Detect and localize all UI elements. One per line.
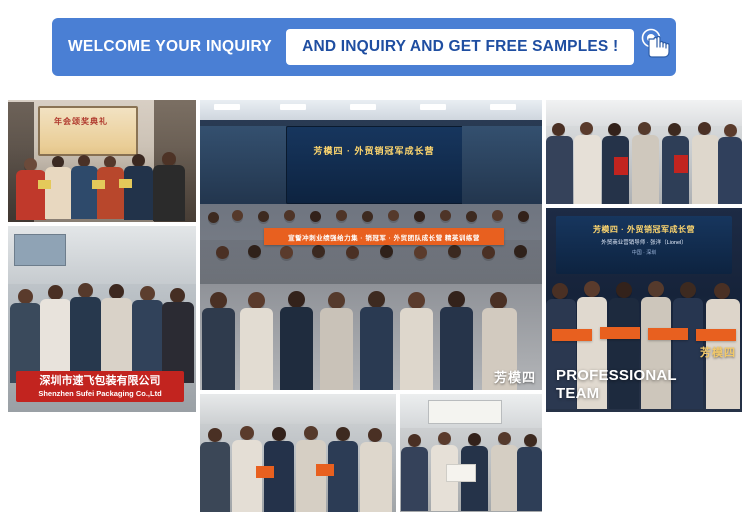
person-head: [448, 291, 465, 308]
ceiling: [200, 100, 542, 120]
person-head: [280, 246, 293, 259]
stage-led-screen: [286, 126, 464, 204]
caption-line-2: TEAM: [556, 385, 677, 404]
front-banner-text: 宣誓冲刺业绩强给力集 · 销冠军 · 外贸团队成长营 精英训练营: [288, 232, 480, 242]
professional-team-caption: PROFESSIONAL TEAM: [556, 367, 677, 405]
people-row: [200, 418, 396, 512]
person-head: [248, 292, 265, 309]
person-head: [438, 432, 451, 445]
photo-content: 芳模四 · 外贸销冠军成长营: [200, 100, 542, 390]
person-head: [482, 246, 495, 259]
photo-content: 深圳市速飞包装有限公司 Shenzhen Sufei Packaging Co.…: [8, 226, 196, 412]
photo-content: [200, 394, 396, 512]
person-head: [18, 289, 33, 304]
person-head: [380, 245, 393, 258]
person-body: [718, 137, 742, 204]
person-body: [280, 307, 313, 390]
person-head: [312, 245, 325, 258]
person-body: [491, 445, 518, 511]
photo-content: [400, 394, 542, 512]
person-head: [552, 123, 565, 136]
person-head: [388, 210, 399, 221]
person-head: [680, 282, 696, 298]
person-head: [368, 291, 385, 308]
person-head: [48, 285, 63, 300]
person-head: [284, 210, 295, 221]
person-head: [490, 292, 507, 309]
certificate: [674, 155, 688, 173]
person-body: [328, 441, 358, 512]
caption-line-1: PROFESSIONAL: [556, 367, 677, 386]
person-body: [70, 297, 101, 383]
stage-text: 年会颂奖典礼: [54, 116, 108, 127]
ceiling-light: [350, 104, 376, 110]
company-name-cn: 深圳市速飞包装有限公司: [40, 375, 161, 387]
award-banner: [648, 328, 688, 340]
front-banner: 宣誓冲刺业绩强给力集 · 销冠军 · 外贸团队成长营 精英训练营: [264, 228, 504, 245]
person-head: [272, 427, 286, 441]
watermark: 芳模四: [700, 344, 736, 360]
company-name-en: Shenzhen Sufei Packaging Co.,Ltd: [22, 389, 178, 398]
people-row: [8, 146, 196, 222]
whiteboard: [428, 400, 502, 424]
person-head: [408, 434, 421, 447]
person-body: [45, 167, 72, 219]
person-head: [616, 282, 632, 298]
click-hand-icon: [634, 24, 678, 70]
ceiling-light: [280, 104, 306, 110]
person-body: [320, 308, 353, 390]
person-body: [632, 135, 659, 204]
person-body: [574, 135, 601, 204]
ceiling-light: [214, 104, 240, 110]
ceiling-light: [420, 104, 446, 110]
person-head: [648, 281, 664, 297]
person-body: [202, 308, 235, 390]
person-head: [368, 428, 382, 442]
audience-area: 宣誓冲刺业绩强给力集 · 销冠军 · 外贸团队成长营 精英训练营: [200, 204, 542, 390]
person-body: [400, 308, 433, 390]
company-name-overlay: 深圳市速飞包装有限公司 Shenzhen Sufei Packaging Co.…: [16, 371, 184, 402]
banner-cta-pill[interactable]: AND INQUIRY AND GET FREE SAMPLES !: [286, 29, 634, 65]
person-head: [208, 212, 219, 223]
person-head: [346, 246, 359, 259]
person-body: [517, 447, 542, 511]
stage-screen-text: 芳模四 · 外贸销冠军成长营: [296, 144, 452, 157]
person-head: [216, 246, 229, 259]
person-body: [296, 440, 326, 512]
person-head: [714, 283, 730, 299]
person-body: [124, 166, 153, 220]
person-head: [109, 284, 124, 299]
person-head: [518, 211, 529, 222]
person-head: [258, 211, 269, 222]
person-head: [440, 210, 451, 221]
photo-award-winners: [546, 100, 742, 204]
inquiry-banner: WELCOME YOUR INQUIRY AND INQUIRY AND GET…: [52, 18, 676, 76]
person-head: [208, 428, 222, 442]
person-head: [668, 123, 681, 136]
ceiling-light: [490, 104, 516, 110]
person-head: [328, 292, 345, 309]
person-body: [673, 298, 703, 409]
banner-welcome-text: WELCOME YOUR INQUIRY: [68, 38, 286, 56]
certificate: [256, 466, 274, 478]
person-body: [546, 136, 573, 204]
wall-left: [200, 126, 286, 206]
person-body: [101, 298, 132, 383]
people-row: [400, 422, 542, 512]
person-body: [360, 307, 393, 390]
person-body: [440, 307, 473, 390]
person-body: [16, 170, 46, 220]
person-body: [401, 447, 428, 511]
stage-screen-subtext2: 中国 · 深圳: [560, 249, 728, 256]
person-head: [492, 210, 503, 221]
people-row: [546, 117, 742, 204]
person-head: [362, 211, 373, 222]
stage-screen-text: 芳模四 · 外贸销冠军成长营: [560, 224, 728, 235]
photo-content: [546, 100, 742, 204]
person-head: [310, 211, 321, 222]
photo-gallery: 年会颂奖典礼: [8, 100, 742, 412]
photo-content: 年会颂奖典礼: [8, 100, 196, 222]
person-head: [498, 432, 511, 445]
person-head: [232, 210, 243, 221]
person-head: [248, 245, 261, 258]
window: [14, 234, 66, 266]
person-head: [140, 286, 155, 301]
watermark: 芳模四: [494, 367, 536, 386]
award-banner: [552, 329, 592, 341]
person-head: [514, 245, 527, 258]
certificate: [92, 180, 105, 189]
person-head: [162, 152, 176, 166]
photo-office-team: 深圳市速飞包装有限公司 Shenzhen Sufei Packaging Co.…: [8, 226, 196, 412]
person-head: [698, 122, 711, 135]
photo-stage-award: 芳模四 · 外贸销冠军成长营 外贸商业营销导师 · 张洋（Lionel） 中国 …: [546, 208, 742, 412]
sign-board: [446, 464, 476, 482]
person-body: [360, 442, 392, 512]
person-head: [524, 434, 537, 447]
photo-content: 芳模四 · 外贸销冠军成长营 外贸商业营销导师 · 张洋（Lionel） 中国 …: [546, 208, 742, 412]
photo-conference-hall: 芳模四 · 外贸销冠军成长营: [200, 100, 542, 390]
photo-team-group: [200, 394, 396, 512]
stage-screen-subtext: 外贸商业营销导师 · 张洋（Lionel）: [560, 238, 728, 246]
certificate: [614, 157, 628, 175]
person-head: [552, 283, 568, 299]
person-body: [153, 165, 185, 221]
award-banner: [696, 329, 736, 341]
person-head: [288, 291, 305, 308]
photo-classroom-training: [400, 394, 542, 512]
certificate: [316, 464, 334, 476]
certificate: [119, 179, 132, 188]
person-head: [170, 288, 185, 303]
wall-right: [462, 126, 542, 206]
person-head: [466, 211, 477, 222]
person-body: [200, 442, 230, 512]
person-body: [240, 308, 273, 390]
certificate: [38, 180, 51, 189]
person-head: [724, 124, 737, 137]
person-head: [408, 292, 425, 309]
photo-award-ceremony-small: 年会颂奖典礼: [8, 100, 196, 222]
person-head: [468, 433, 481, 446]
person-head: [414, 211, 425, 222]
person-body: [692, 135, 719, 204]
person-head: [336, 210, 347, 221]
person-head: [448, 245, 461, 258]
person-head: [78, 283, 93, 298]
person-head: [414, 246, 427, 259]
person-body: [97, 167, 124, 219]
person-head: [584, 281, 600, 297]
person-head: [580, 122, 593, 135]
person-head: [336, 427, 350, 441]
person-head: [608, 123, 621, 136]
award-banner: [600, 327, 640, 339]
person-body: [71, 166, 98, 219]
person-head: [210, 292, 227, 309]
person-head: [638, 122, 651, 135]
